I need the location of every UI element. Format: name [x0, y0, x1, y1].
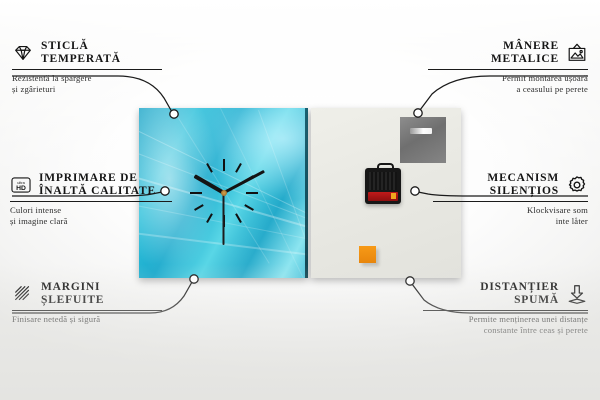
- down-arrow-stack-icon: [566, 283, 588, 305]
- mechanism-hook: [377, 163, 394, 172]
- product-image: [139, 108, 461, 278]
- divider: [428, 69, 588, 70]
- divider: [433, 201, 588, 202]
- divider: [12, 69, 162, 70]
- callout-title: MÂNERE METALICE: [491, 40, 559, 66]
- callout-title: STICLĂ TEMPERATĂ: [41, 40, 121, 66]
- callout-title: MECANISM SILENȚIOS: [487, 172, 559, 198]
- divider: [10, 201, 172, 202]
- callout-foam-spacer: DISTANȚIER SPUMĂ Permite menținerea unei…: [423, 281, 588, 335]
- callout-subtitle: Culori intense și imagine clară: [10, 205, 172, 226]
- glass-edge: [305, 108, 308, 278]
- clock-mechanism: [365, 168, 401, 204]
- callout-tempered-glass: STICLĂ TEMPERATĂ Rezistentă la spargere …: [12, 40, 162, 94]
- callout-high-quality-print: ultra HD IMPRIMARE DE ÎNALTĂ CALITATE Cu…: [10, 172, 172, 226]
- callout-title: DISTANȚIER SPUMĂ: [480, 281, 559, 307]
- svg-text:HD: HD: [16, 185, 26, 192]
- callout-subtitle: Permite menținerea unei distanțe constan…: [423, 314, 588, 335]
- callout-metal-handles: MÂNERE METALICE Permit montarea ușoară a…: [428, 40, 588, 94]
- callout-silent-mechanism: MECANISM SILENȚIOS Klockvisare som inte …: [433, 172, 588, 226]
- polished-edges-icon: [12, 283, 34, 305]
- divider: [423, 310, 588, 311]
- metal-hanger-plate: [400, 117, 446, 163]
- callout-subtitle: Klockvisare som inte låter: [433, 205, 588, 226]
- ultra-hd-icon: ultra HD: [10, 174, 32, 196]
- mechanism-housing: [369, 172, 397, 190]
- battery: [368, 192, 398, 201]
- callout-title: MARGINI ȘLEFUITE: [41, 281, 104, 307]
- gear-icon: [566, 174, 588, 196]
- divider: [12, 310, 162, 311]
- callout-subtitle: Finisare netedă și sigură: [12, 314, 162, 325]
- callout-title: IMPRIMARE DE ÎNALTĂ CALITATE: [39, 172, 156, 198]
- diamond-icon: [12, 42, 34, 64]
- wall-hanger-icon: [566, 42, 588, 64]
- infographic-canvas: STICLĂ TEMPERATĂ Rezistentă la spargere …: [0, 0, 600, 400]
- callout-subtitle: Permit montarea ușoară a ceasului pe per…: [428, 73, 588, 94]
- callout-polished-edges: MARGINI ȘLEFUITE Finisare netedă și sigu…: [12, 281, 162, 325]
- callout-subtitle: Rezistentă la spargere și zgârieturi: [12, 73, 162, 94]
- foam-spacer-pad: [359, 246, 376, 263]
